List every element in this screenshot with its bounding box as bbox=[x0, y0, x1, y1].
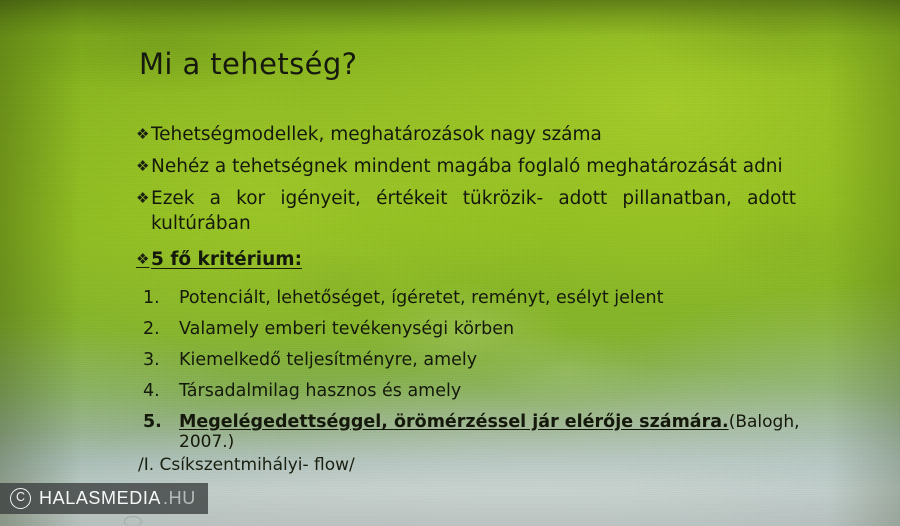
slide-title: Mi a tehetség? bbox=[139, 47, 357, 81]
numbered-item-index: 3. bbox=[143, 350, 179, 370]
numbered-item: 2. Valamely emberi tevékenységi körben bbox=[143, 319, 823, 350]
numbered-item-index: 1. bbox=[143, 288, 179, 308]
numbered-item: 4. Társadalmilag hasznos és amely bbox=[143, 381, 823, 412]
projected-slide-photo: Mi a tehetség? ❖ Tehetségmodellek, megha… bbox=[0, 0, 900, 526]
numbered-item-index: 2. bbox=[143, 319, 179, 339]
watermark-name-label: HALASMEDIA bbox=[39, 488, 161, 509]
slide-footnote: /I. Csíkszentmihályi- flow/ bbox=[138, 455, 355, 475]
numbered-item-main-text: Megelégedettséggel, örömérzéssel jár elé… bbox=[179, 412, 729, 432]
numbered-item: 3. Kiemelkedő teljesítményre, amely bbox=[143, 350, 823, 381]
numbered-item-index: 4. bbox=[143, 381, 179, 401]
diamond-bullet-icon: ❖ bbox=[136, 122, 151, 147]
diamond-bullet-icon: ❖ bbox=[136, 247, 151, 272]
halasmedia-watermark: C HALASMEDIA .HU bbox=[0, 483, 208, 514]
bullet-item: ❖ Ezek a kor igényeit, értékeit tükrözik… bbox=[136, 186, 796, 236]
bullet-item: ❖ Nehéz a tehetségnek mindent magába fog… bbox=[136, 154, 796, 179]
numbered-item-label: Potenciált, lehetőséget, ígéretet, remén… bbox=[179, 288, 823, 308]
numbered-item: 1. Potenciált, lehetőséget, ígéretet, re… bbox=[143, 288, 823, 319]
criteria-heading-label: 5 fő kritérium: bbox=[151, 247, 796, 272]
criteria-heading: ❖ 5 fő kritérium: bbox=[136, 247, 796, 272]
bullet-list: ❖ Tehetségmodellek, meghatározások nagy … bbox=[136, 122, 796, 275]
numbered-item-label: Valamely emberi tevékenységi körben bbox=[179, 319, 823, 339]
numbered-item-label: Kiemelkedő teljesítményre, amely bbox=[179, 350, 823, 370]
copyright-icon: C bbox=[10, 488, 31, 509]
numbered-item-index: 5. bbox=[143, 412, 179, 432]
bullet-item-label: Ezek a kor igényeit, értékeit tükrözik- … bbox=[151, 186, 796, 236]
diamond-bullet-icon: ❖ bbox=[136, 186, 151, 211]
numbered-criteria-list: 1. Potenciált, lehetőséget, ígéretet, re… bbox=[143, 288, 823, 442]
diamond-bullet-icon: ❖ bbox=[136, 154, 151, 179]
numbered-item-label: Megelégedettséggel, örömérzéssel jár elé… bbox=[179, 412, 823, 452]
watermark-tld-label: .HU bbox=[163, 488, 196, 509]
bullet-item-label: Nehéz a tehetségnek mindent magába fogla… bbox=[151, 154, 796, 179]
slide-content: Mi a tehetség? ❖ Tehetségmodellek, megha… bbox=[0, 0, 900, 526]
numbered-item-label: Társadalmilag hasznos és amely bbox=[179, 381, 823, 401]
numbered-item: 5. Megelégedettséggel, örömérzéssel jár … bbox=[143, 412, 823, 442]
bullet-item-label: Tehetségmodellek, meghatározások nagy sz… bbox=[151, 122, 796, 147]
bullet-item: ❖ Tehetségmodellek, meghatározások nagy … bbox=[136, 122, 796, 147]
